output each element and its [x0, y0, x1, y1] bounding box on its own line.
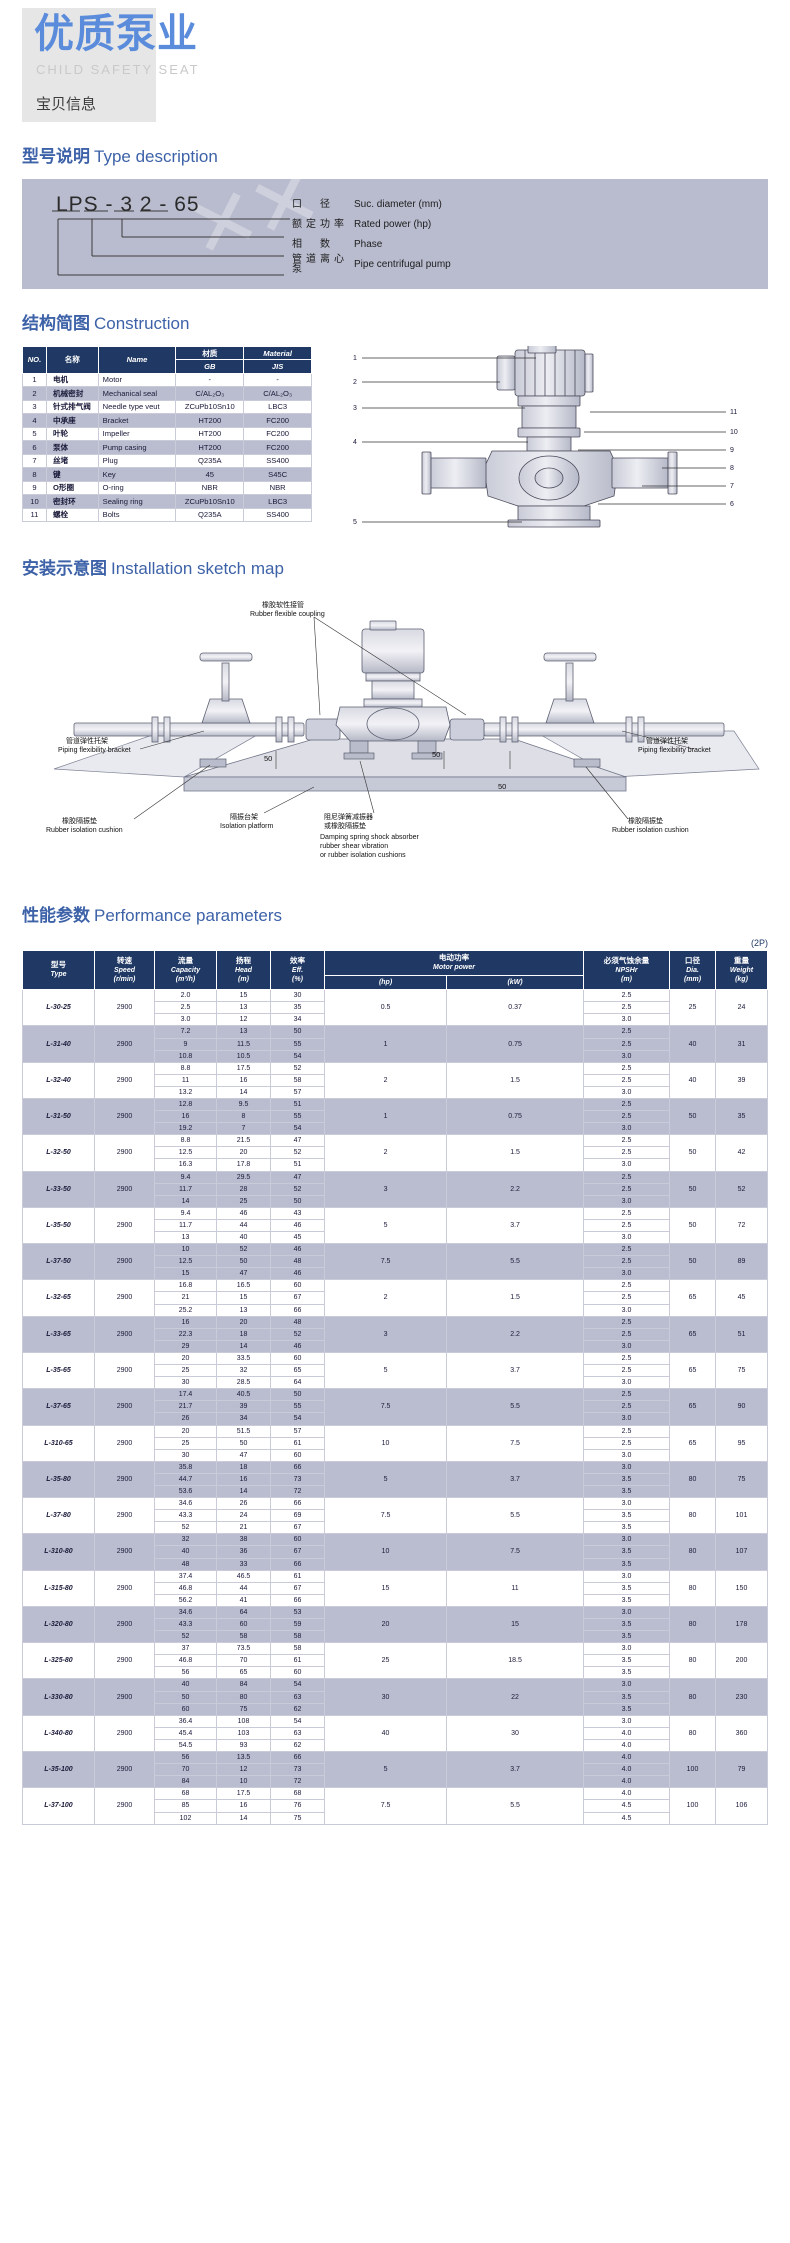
table-row: L-310-6529002051.557107.52.56595 — [23, 1425, 768, 1437]
performance-cell-npshr: 2.5 — [584, 1328, 670, 1340]
col-dia-en: Dia. — [671, 966, 714, 975]
construction-cell-gb: 45 — [176, 468, 244, 481]
performance-cell-eff: 47 — [271, 1135, 325, 1147]
performance-cell-hp: 30 — [325, 1679, 447, 1715]
performance-cell-head: 46 — [217, 1207, 271, 1219]
col-head: 扬程 Head (m) — [217, 951, 271, 990]
col-speed-cn: 转速 — [96, 956, 153, 966]
table-row: L-32-4029008.817.55221.52.54039 — [23, 1062, 768, 1074]
performance-cell-npshr: 3.0 — [584, 1340, 670, 1352]
section-title-cn: 安装示意图 — [22, 559, 107, 578]
performance-cell-head: 41 — [217, 1594, 271, 1606]
performance-cell-head: 60 — [217, 1619, 271, 1631]
performance-cell-capacity: 56.2 — [155, 1594, 217, 1606]
performance-cell-eff: 53 — [271, 1606, 325, 1618]
performance-cell-capacity: 102 — [155, 1812, 217, 1824]
performance-cell-speed: 2900 — [95, 1389, 155, 1425]
col-jis: JIS — [244, 360, 312, 373]
performance-cell-head: 50 — [217, 1437, 271, 1449]
construction-cell-gb: C/AL₂O₃ — [176, 387, 244, 400]
performance-cell-dia: 80 — [670, 1643, 716, 1679]
performance-cell-type: L-310-65 — [23, 1425, 95, 1461]
table-row: 10密封环Sealing ringZCuPb10Sn10LBC3 — [23, 495, 312, 508]
performance-cell-type: L-31-40 — [23, 1026, 95, 1062]
performance-cell-weight: 90 — [716, 1389, 768, 1425]
col-head-cn: 扬程 — [218, 956, 269, 966]
table-row: L-32-5029008.821.54721.52.55042 — [23, 1135, 768, 1147]
performance-cell-capacity: 36.4 — [155, 1715, 217, 1727]
installation-figure: 50 50 50 橡胶软性接管 Rubber flexible coupling… — [14, 591, 776, 881]
performance-cell-dia: 50 — [670, 1244, 716, 1280]
performance-cell-capacity: 34.6 — [155, 1606, 217, 1618]
col-gb: GB — [176, 360, 244, 373]
performance-cell-eff: 35 — [271, 1002, 325, 1014]
label-isolation-platform-en: Isolation platform — [220, 823, 273, 830]
construction-cell-no: 3 — [23, 400, 47, 413]
table-row: 7丝堵PlugQ235ASS400 — [23, 454, 312, 467]
performance-cell-npshr: 3.0 — [584, 1014, 670, 1026]
performance-cell-hp: 10 — [325, 1425, 447, 1461]
performance-cell-head: 9.5 — [217, 1098, 271, 1110]
brand-name-en: CHILD SAFETY SEAT — [22, 54, 790, 77]
performance-cell-capacity: 26 — [155, 1413, 217, 1425]
legend-row: 管道离心泵 Pipe centrifugal pump — [292, 255, 451, 275]
performance-cell-capacity: 45.4 — [155, 1727, 217, 1739]
pump-assembly-figure: 1 2 3 4 5 6 7 8 9 10 11 — [322, 346, 768, 534]
performance-cell-hp: 7.5 — [325, 1498, 447, 1534]
legend-label-cn: 相 数 — [292, 240, 354, 250]
performance-cell-type: L-30-25 — [23, 990, 95, 1026]
performance-cell-type: L-35-50 — [23, 1207, 95, 1243]
performance-cell-dia: 80 — [670, 1534, 716, 1570]
performance-cell-hp: 5 — [325, 1207, 447, 1243]
performance-cell-npshr: 3.0 — [584, 1679, 670, 1691]
performance-cell-eff: 67 — [271, 1546, 325, 1558]
performance-cell-capacity: 48 — [155, 1558, 217, 1570]
performance-cell-kw: 18.5 — [447, 1643, 584, 1679]
performance-cell-hp: 1 — [325, 1026, 447, 1062]
col-eff: 效率 Eff. (%) — [271, 951, 325, 990]
performance-cell-speed: 2900 — [95, 1135, 155, 1171]
performance-cell-kw: 3.7 — [447, 1752, 584, 1788]
performance-cell-head: 7 — [217, 1123, 271, 1135]
performance-cell-eff: 67 — [271, 1582, 325, 1594]
performance-cell-eff: 76 — [271, 1800, 325, 1812]
section-title-installation: 安装示意图Installation sketch map — [22, 554, 790, 579]
performance-cell-weight: 35 — [716, 1098, 768, 1134]
performance-cell-capacity: 16 — [155, 1316, 217, 1328]
performance-cell-capacity: 22.3 — [155, 1328, 217, 1340]
performance-cell-npshr: 2.5 — [584, 1098, 670, 1110]
label-bl-cushion-en: Rubber isolation cushion — [46, 827, 123, 834]
performance-cell-eff: 51 — [271, 1159, 325, 1171]
performance-cell-eff: 58 — [271, 1631, 325, 1643]
table-row: L-37-80290034.626667.55.53.080101 — [23, 1498, 768, 1510]
performance-cell-type: L-31-50 — [23, 1098, 95, 1134]
performance-cell-npshr: 4.0 — [584, 1739, 670, 1751]
callout-10: 10 — [730, 429, 738, 436]
performance-cell-eff: 55 — [271, 1111, 325, 1123]
dimension-50-mid: 50 — [432, 750, 440, 759]
performance-cell-hp: 7.5 — [325, 1389, 447, 1425]
performance-cell-capacity: 9 — [155, 1038, 217, 1050]
performance-cell-eff: 52 — [271, 1328, 325, 1340]
construction-cell-no: 9 — [23, 481, 47, 494]
table-row: L-33-65290016204832.22.56551 — [23, 1316, 768, 1328]
performance-cell-head: 13 — [217, 1304, 271, 1316]
performance-cell-head: 44 — [217, 1582, 271, 1594]
performance-cell-eff: 50 — [271, 1026, 325, 1038]
performance-cell-npshr: 3.5 — [584, 1558, 670, 1570]
performance-cell-capacity: 14 — [155, 1195, 217, 1207]
performance-cell-head: 108 — [217, 1715, 271, 1727]
brand-name-cn: 优质泵业 — [22, 0, 790, 54]
performance-cell-capacity: 10.8 — [155, 1050, 217, 1062]
performance-cell-eff: 58 — [271, 1643, 325, 1655]
construction-cell-name-en: Bracket — [98, 414, 176, 427]
performance-cell-npshr: 3.0 — [584, 1413, 670, 1425]
performance-cell-capacity: 13.2 — [155, 1086, 217, 1098]
performance-cell-type: L-32-65 — [23, 1280, 95, 1316]
performance-cell-dia: 80 — [670, 1461, 716, 1497]
performance-cell-eff: 60 — [271, 1280, 325, 1292]
legend-label-en: Pipe centrifugal pump — [354, 260, 451, 270]
performance-cell-weight: 39 — [716, 1062, 768, 1098]
performance-cell-eff: 46 — [271, 1244, 325, 1256]
performance-cell-capacity: 9.4 — [155, 1207, 217, 1219]
performance-cell-npshr: 2.5 — [584, 1437, 670, 1449]
performance-cell-npshr: 2.5 — [584, 1244, 670, 1256]
performance-cell-dia: 65 — [670, 1280, 716, 1316]
performance-cell-head: 12 — [217, 1014, 271, 1026]
construction-cell-gb: HT200 — [176, 414, 244, 427]
performance-cell-capacity: 56 — [155, 1752, 217, 1764]
performance-cell-capacity: 25 — [155, 1365, 217, 1377]
performance-cell-kw: 5.5 — [447, 1389, 584, 1425]
performance-cell-head: 16 — [217, 1800, 271, 1812]
performance-cell-weight: 89 — [716, 1244, 768, 1280]
performance-cell-capacity: 37.4 — [155, 1570, 217, 1582]
type-legend: 口 径 Suc. diameter (mm) 额定功率 Rated power … — [292, 195, 451, 275]
performance-cell-type: L-37-65 — [23, 1389, 95, 1425]
performance-cell-capacity: 53.6 — [155, 1485, 217, 1497]
performance-cell-eff: 58 — [271, 1074, 325, 1086]
performance-cell-head: 14 — [217, 1812, 271, 1824]
performance-cell-capacity: 52 — [155, 1522, 217, 1534]
performance-cell-eff: 48 — [271, 1316, 325, 1328]
performance-cell-head: 17.5 — [217, 1062, 271, 1074]
col-name-en: Name — [98, 347, 176, 374]
performance-cell-head: 20 — [217, 1147, 271, 1159]
col-kw: (kW) — [447, 975, 584, 989]
performance-cell-npshr: 3.0 — [584, 1534, 670, 1546]
performance-cell-head: 12 — [217, 1764, 271, 1776]
construction-cell-jis: LBC3 — [244, 400, 312, 413]
performance-cell-speed: 2900 — [95, 1316, 155, 1352]
performance-cell-eff: 43 — [271, 1207, 325, 1219]
performance-cell-speed: 2900 — [95, 1280, 155, 1316]
performance-cell-dia: 40 — [670, 1062, 716, 1098]
performance-cell-capacity: 19.2 — [155, 1123, 217, 1135]
performance-cell-npshr: 3.5 — [584, 1522, 670, 1534]
col-hp: (hp) — [325, 975, 447, 989]
col-npshr-en: NPSHr — [585, 966, 668, 975]
construction-cell-jis: NBR — [244, 481, 312, 494]
label-rubber-coupling-cn: 橡胶软性接管 — [262, 600, 304, 609]
callout-11: 11 — [730, 409, 737, 416]
performance-cell-eff: 66 — [271, 1304, 325, 1316]
performance-cell-npshr: 2.5 — [584, 1002, 670, 1014]
col-motor-power: 电动功率 Motor power — [325, 951, 584, 976]
section-title-cn: 型号说明 — [22, 147, 90, 166]
performance-cell-head: 44 — [217, 1219, 271, 1231]
performance-cell-head: 15 — [217, 1292, 271, 1304]
construction-cell-no: 10 — [23, 495, 47, 508]
construction-header-row: NO. 名称 Name 材质 Material — [23, 347, 312, 360]
performance-cell-head: 33.5 — [217, 1352, 271, 1364]
performance-cell-capacity: 46.8 — [155, 1582, 217, 1594]
performance-cell-speed: 2900 — [95, 1679, 155, 1715]
performance-cell-hp: 40 — [325, 1715, 447, 1751]
table-row: 8键Key45S45C — [23, 468, 312, 481]
construction-cell-name-cn: 丝堵 — [46, 454, 98, 467]
performance-cell-head: 47 — [217, 1449, 271, 1461]
performance-cell-head: 13 — [217, 1002, 271, 1014]
performance-cell-weight: 51 — [716, 1316, 768, 1352]
performance-cell-head: 16 — [217, 1473, 271, 1485]
label-damper-cn-1: 阻尼弹簧减振器 — [324, 812, 373, 821]
section-title-type-description: 型号说明Type description — [22, 142, 790, 167]
col-weight-unit: (kg) — [717, 975, 766, 984]
construction-table-body: 1电机Motor--2机械密封Mechanical sealC/AL₂O₃C/A… — [23, 373, 312, 521]
performance-cell-capacity: 85 — [155, 1800, 217, 1812]
performance-cell-dia: 80 — [670, 1715, 716, 1751]
performance-cell-head: 40.5 — [217, 1389, 271, 1401]
label-right-bracket-cn: 管道弹性托架 — [646, 736, 688, 745]
col-motor-power-en: Motor power — [326, 963, 582, 972]
performance-cell-eff: 69 — [271, 1510, 325, 1522]
performance-cell-type: L-37-80 — [23, 1498, 95, 1534]
performance-cell-eff: 60 — [271, 1449, 325, 1461]
table-row: L-35-10029005613.56653.74.010079 — [23, 1752, 768, 1764]
performance-cell-head: 14 — [217, 1340, 271, 1352]
legend-label-cn: 口 径 — [292, 200, 354, 210]
performance-cell-capacity: 11.7 — [155, 1183, 217, 1195]
construction-cell-jis: S45C — [244, 468, 312, 481]
table-row: 9O形圈O-ringNBRNBR — [23, 481, 312, 494]
performance-cell-head: 70 — [217, 1655, 271, 1667]
performance-cell-dia: 80 — [670, 1570, 716, 1606]
legend-label-en: Suc. diameter (mm) — [354, 200, 442, 210]
performance-cell-eff: 54 — [271, 1413, 325, 1425]
performance-cell-capacity: 68 — [155, 1788, 217, 1800]
performance-cell-head: 15 — [217, 990, 271, 1002]
performance-cell-head: 75 — [217, 1703, 271, 1715]
construction-cell-name-cn: 机械密封 — [46, 387, 98, 400]
performance-cell-weight: 72 — [716, 1207, 768, 1243]
performance-cell-hp: 2 — [325, 1062, 447, 1098]
construction-cell-name-cn: O形圈 — [46, 481, 98, 494]
performance-cell-capacity: 3.0 — [155, 1014, 217, 1026]
performance-cell-speed: 2900 — [95, 1534, 155, 1570]
performance-cell-hp: 5 — [325, 1752, 447, 1788]
performance-cell-eff: 54 — [271, 1050, 325, 1062]
performance-cell-head: 20 — [217, 1316, 271, 1328]
performance-cell-eff: 59 — [271, 1619, 325, 1631]
performance-cell-kw: 2.2 — [447, 1316, 584, 1352]
callout-1: 1 — [353, 355, 357, 362]
performance-cell-head: 14 — [217, 1485, 271, 1497]
performance-cell-capacity: 11 — [155, 1074, 217, 1086]
performance-cell-eff: 34 — [271, 1014, 325, 1026]
performance-cell-hp: 2 — [325, 1135, 447, 1171]
performance-cell-eff: 51 — [271, 1098, 325, 1110]
performance-cell-weight: 31 — [716, 1026, 768, 1062]
construction-section: NO. 名称 Name 材质 Material GB JIS 1电机Motor-… — [22, 346, 768, 534]
table-row: L-32-65290016.816.56021.52.56545 — [23, 1280, 768, 1292]
construction-cell-gb: ZCuPb10Sn10 — [176, 400, 244, 413]
performance-cell-type: L-315-80 — [23, 1570, 95, 1606]
performance-cell-head: 21.5 — [217, 1135, 271, 1147]
section-title-en: Construction — [94, 314, 189, 333]
performance-cell-weight: 360 — [716, 1715, 768, 1751]
performance-cell-eff: 67 — [271, 1522, 325, 1534]
performance-cell-eff: 67 — [271, 1292, 325, 1304]
col-speed: 转速 Speed (r/min) — [95, 951, 155, 990]
construction-cell-jis: SS400 — [244, 454, 312, 467]
performance-table: 型号 Type 转速 Speed (r/min) 流量 Capacity (m³… — [22, 950, 768, 1825]
performance-cell-eff: 73 — [271, 1473, 325, 1485]
performance-cell-head: 46.5 — [217, 1570, 271, 1582]
performance-cell-eff: 62 — [271, 1739, 325, 1751]
table-row: L-315-80290037.446.56115113.080150 — [23, 1570, 768, 1582]
performance-cell-capacity: 16 — [155, 1111, 217, 1123]
performance-cell-capacity: 15 — [155, 1268, 217, 1280]
performance-cell-weight: 52 — [716, 1171, 768, 1207]
performance-cell-type: L-35-80 — [23, 1461, 95, 1497]
performance-cell-kw: 5.5 — [447, 1788, 584, 1824]
performance-cell-npshr: 3.0 — [584, 1123, 670, 1135]
performance-cell-weight: 45 — [716, 1280, 768, 1316]
performance-cell-capacity: 17.4 — [155, 1389, 217, 1401]
performance-cell-npshr: 3.5 — [584, 1546, 670, 1558]
construction-cell-gb: ZCuPb10Sn10 — [176, 495, 244, 508]
construction-cell-jis: SS400 — [244, 508, 312, 521]
performance-cell-npshr: 3.5 — [584, 1473, 670, 1485]
performance-cell-type: L-330-80 — [23, 1679, 95, 1715]
performance-cell-head: 17.5 — [217, 1788, 271, 1800]
performance-cell-dia: 50 — [670, 1207, 716, 1243]
performance-cell-npshr: 3.5 — [584, 1667, 670, 1679]
performance-cell-head: 80 — [217, 1691, 271, 1703]
construction-cell-gb: - — [176, 373, 244, 386]
performance-cell-eff: 66 — [271, 1461, 325, 1473]
performance-cell-capacity: 70 — [155, 1764, 217, 1776]
performance-cell-capacity: 29 — [155, 1340, 217, 1352]
construction-cell-gb: HT200 — [176, 427, 244, 440]
performance-cell-head: 28.5 — [217, 1377, 271, 1389]
callout-4: 4 — [353, 439, 357, 446]
performance-cell-hp: 7.5 — [325, 1788, 447, 1824]
performance-cell-kw: 0.75 — [447, 1026, 584, 1062]
construction-cell-name-en: Pump casing — [98, 441, 176, 454]
performance-cell-eff: 64 — [271, 1377, 325, 1389]
performance-cell-head: 14 — [217, 1086, 271, 1098]
performance-cell-kw: 7.5 — [447, 1534, 584, 1570]
performance-cell-speed: 2900 — [95, 1244, 155, 1280]
performance-cell-npshr: 2.5 — [584, 1219, 670, 1231]
performance-cell-eff: 54 — [271, 1715, 325, 1727]
performance-cell-type: L-340-80 — [23, 1715, 95, 1751]
performance-cell-eff: 75 — [271, 1812, 325, 1824]
construction-cell-name-en: Needle type veut — [98, 400, 176, 413]
performance-cell-capacity: 12.5 — [155, 1256, 217, 1268]
performance-cell-head: 39 — [217, 1401, 271, 1413]
performance-cell-kw: 3.7 — [447, 1461, 584, 1497]
construction-cell-no: 11 — [23, 508, 47, 521]
performance-cell-npshr: 2.5 — [584, 1389, 670, 1401]
performance-cell-kw: 11 — [447, 1570, 584, 1606]
performance-cell-eff: 30 — [271, 990, 325, 1002]
construction-cell-no: 5 — [23, 427, 47, 440]
label-left-bracket-en: Piping flexibility bracket — [58, 747, 131, 754]
performance-cell-npshr: 4.0 — [584, 1752, 670, 1764]
label-br-cushion-cn: 橡胶隔振垫 — [628, 816, 663, 825]
performance-cell-eff: 46 — [271, 1219, 325, 1231]
col-speed-en: Speed — [96, 966, 153, 975]
performance-cell-eff: 61 — [271, 1437, 325, 1449]
performance-cell-capacity: 30 — [155, 1377, 217, 1389]
performance-cell-eff: 60 — [271, 1352, 325, 1364]
performance-cell-eff: 72 — [271, 1485, 325, 1497]
performance-cell-head: 36 — [217, 1546, 271, 1558]
performance-cell-type: L-310-80 — [23, 1534, 95, 1570]
performance-cell-eff: 46 — [271, 1340, 325, 1352]
construction-cell-name-en: Sealing ring — [98, 495, 176, 508]
performance-cell-capacity: 10 — [155, 1244, 217, 1256]
col-type: 型号 Type — [23, 951, 95, 990]
performance-cell-dia: 50 — [670, 1135, 716, 1171]
performance-cell-npshr: 3.0 — [584, 1304, 670, 1316]
performance-cell-kw: 7.5 — [447, 1425, 584, 1461]
col-npshr-unit: (m) — [585, 975, 668, 984]
performance-cell-head: 10.5 — [217, 1050, 271, 1062]
performance-cell-head: 64 — [217, 1606, 271, 1618]
performance-cell-capacity: 13 — [155, 1232, 217, 1244]
performance-cell-eff: 52 — [271, 1062, 325, 1074]
performance-cell-weight: 101 — [716, 1498, 768, 1534]
construction-cell-jis: FC200 — [244, 441, 312, 454]
performance-cell-capacity: 46.8 — [155, 1655, 217, 1667]
performance-cell-npshr: 4.0 — [584, 1776, 670, 1788]
performance-cell-npshr: 2.5 — [584, 1171, 670, 1183]
performance-cell-kw: 2.2 — [447, 1171, 584, 1207]
performance-cell-hp: 5 — [325, 1352, 447, 1388]
construction-cell-no: 7 — [23, 454, 47, 467]
construction-cell-name-en: Impeller — [98, 427, 176, 440]
performance-cell-npshr: 2.5 — [584, 1183, 670, 1195]
type-description-panel: ✕✕ LPS - 3 2 - 65 口 径 — [22, 179, 768, 289]
performance-cell-weight: 79 — [716, 1752, 768, 1788]
performance-cell-eff: 47 — [271, 1171, 325, 1183]
col-speed-unit: (r/min) — [96, 975, 153, 984]
performance-cell-kw: 5.5 — [447, 1244, 584, 1280]
section-title-cn: 结构简图 — [22, 314, 90, 333]
performance-cell-npshr: 3.5 — [584, 1594, 670, 1606]
performance-cell-capacity: 37 — [155, 1643, 217, 1655]
performance-cell-npshr: 3.0 — [584, 1715, 670, 1727]
col-head-en: Head — [218, 966, 269, 975]
